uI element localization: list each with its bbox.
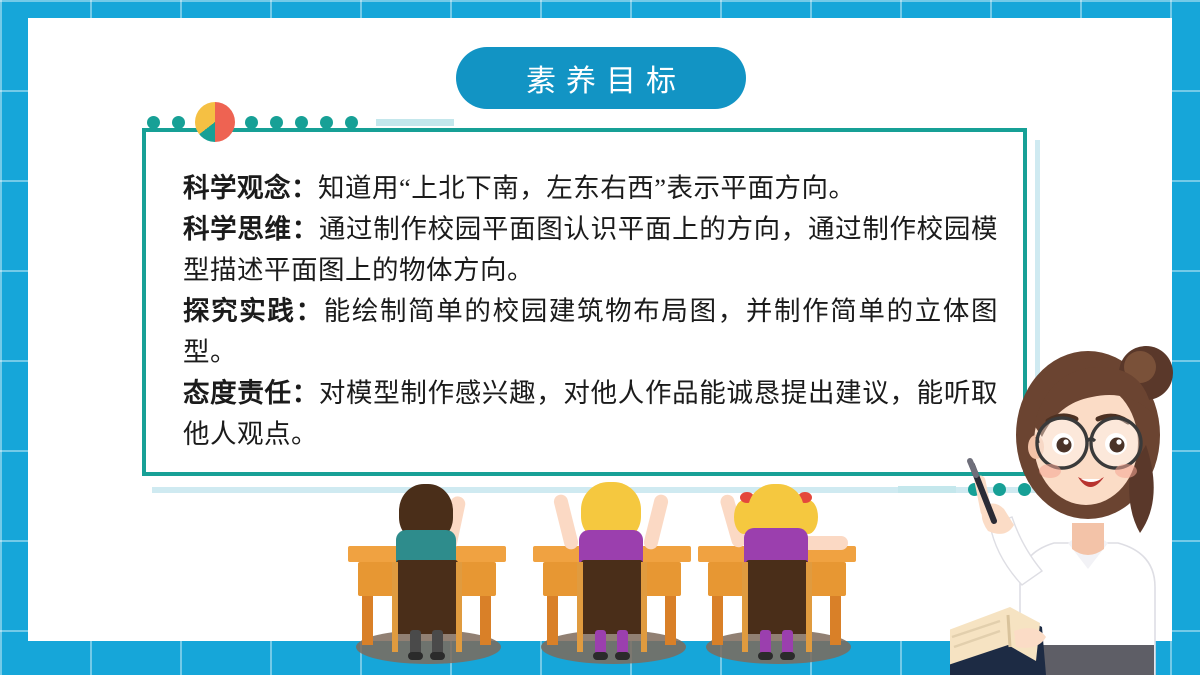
objective-label: 科学观念： — [183, 173, 318, 203]
objectives-list: 科学观念：知道用“上北下南，左东右西”表示平面方向。 科学思维：通过制作校园平面… — [183, 168, 998, 455]
objective-item: 态度责任：对模型制作感兴趣，对他人作品能诚恳提出建议，能听取他人观点。 — [183, 373, 998, 455]
objective-label: 科学思维： — [183, 214, 319, 244]
objective-item: 科学观念：知道用“上北下南，左东右西”表示平面方向。 — [183, 168, 998, 209]
decor-dot — [320, 116, 333, 129]
slide-title-pill: 素养目标 — [456, 47, 746, 109]
objective-body: 知道用“上北下南，左东右西”表示平面方向。 — [318, 173, 856, 203]
objective-item: 科学思维：通过制作校园平面图认识平面上的方向，通过制作校园模型描述平面图上的物体… — [183, 209, 998, 291]
decor-dot — [345, 116, 358, 129]
decor-dot — [295, 116, 308, 129]
student-raising-hand-2 — [525, 480, 705, 675]
objective-label: 态度责任： — [183, 378, 319, 408]
page-title: 素养目标 — [516, 56, 686, 100]
student-raising-hand-3 — [690, 480, 870, 675]
decor-line — [376, 119, 454, 126]
decoration-top-left — [147, 112, 454, 132]
decor-line — [898, 486, 956, 493]
slide-background: 素养目标 科学观念：知道用“上北下南，左东右西”表示平面方向。 科学思维：通过制… — [0, 0, 1200, 675]
decor-dot — [147, 116, 160, 129]
objective-label: 探究实践： — [183, 296, 324, 326]
decor-dot — [245, 116, 258, 129]
student-raising-hand-1 — [340, 480, 520, 675]
objective-item: 探究实践：能绘制简单的校园建筑物布局图，并制作简单的立体图型。 — [183, 291, 998, 373]
pie-chart-icon — [195, 102, 235, 142]
decor-dot — [172, 116, 185, 129]
decor-dot — [270, 116, 283, 129]
teacher-with-book — [950, 285, 1200, 675]
